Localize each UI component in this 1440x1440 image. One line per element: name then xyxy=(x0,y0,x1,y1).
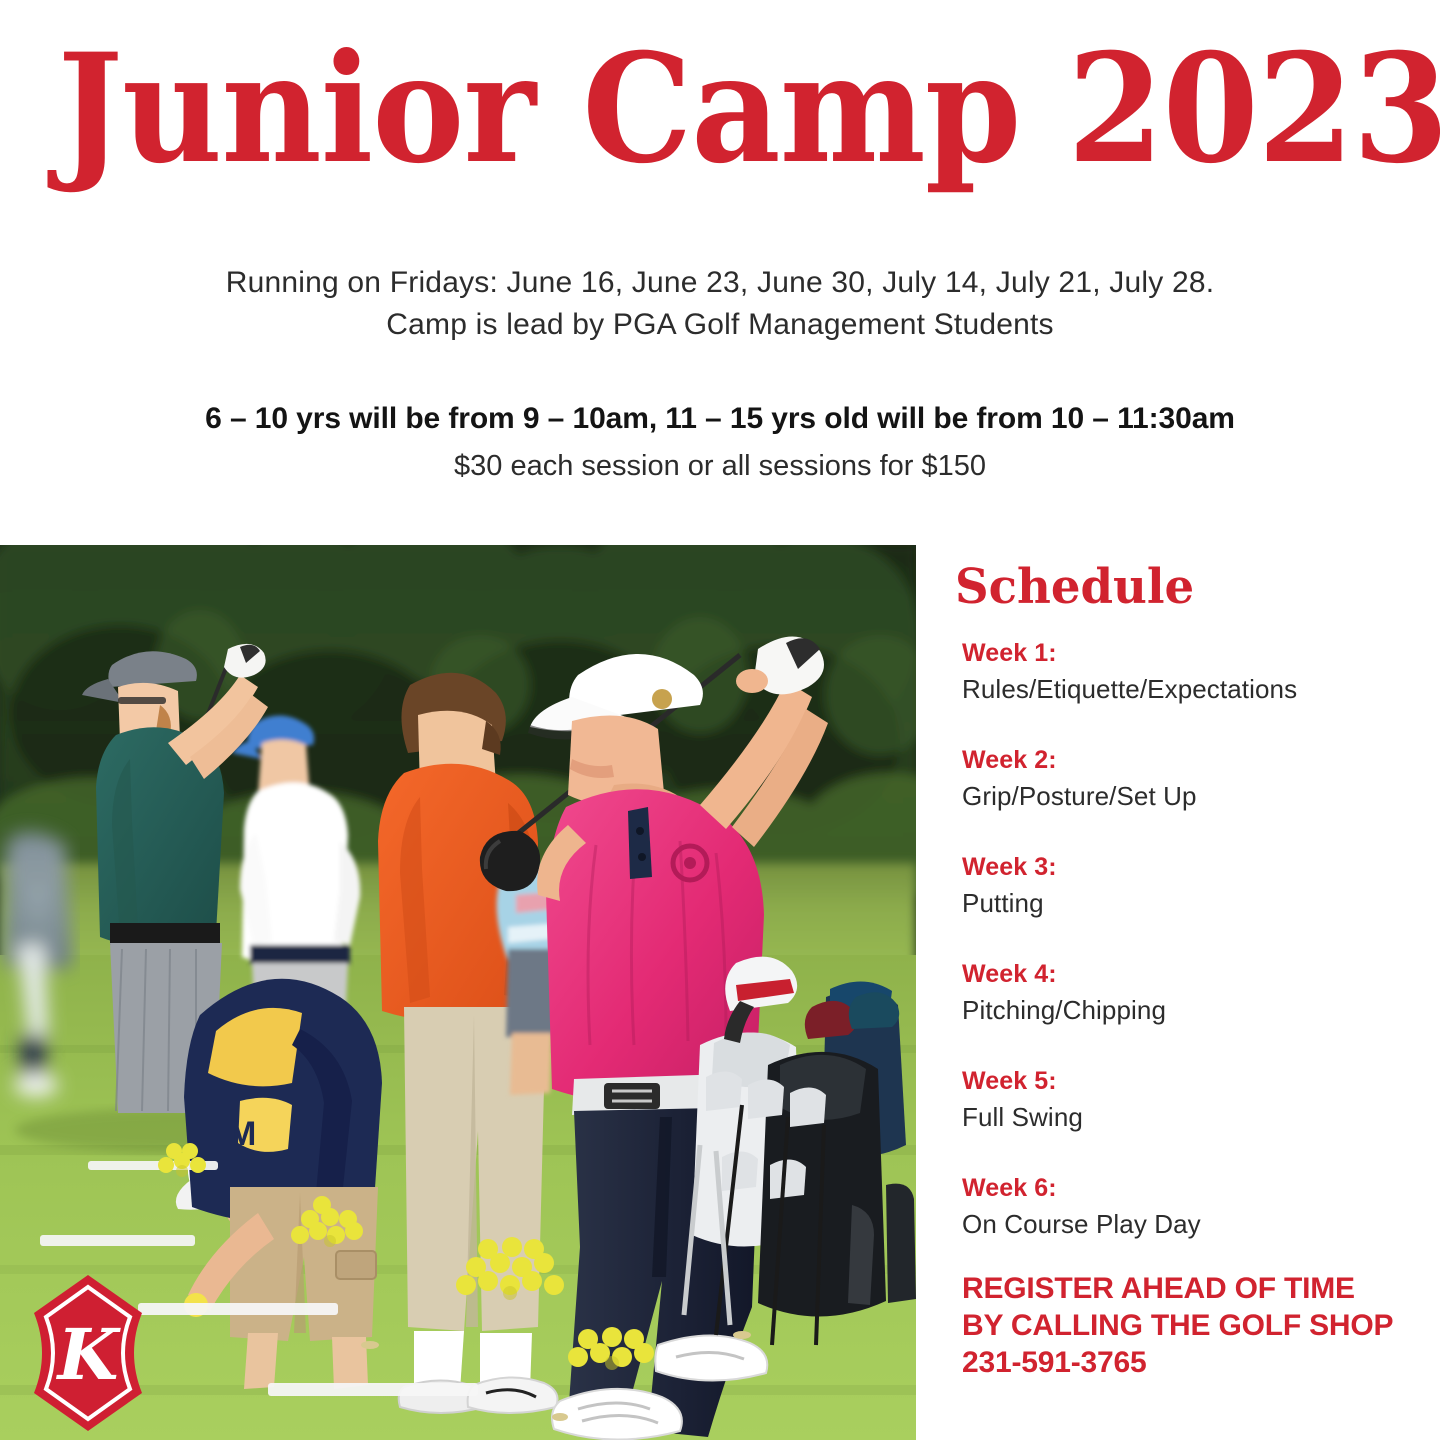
svg-text:M: M xyxy=(228,1115,256,1153)
register-line-1: REGISTER AHEAD OF TIME xyxy=(962,1270,1425,1307)
schedule-week-3: Week 3: Putting xyxy=(962,850,1425,922)
intro-line-2: Camp is lead by PGA Golf Management Stud… xyxy=(0,304,1440,346)
week-1-label: Week 1: xyxy=(962,636,1425,670)
price-line: $30 each session or all sessions for $15… xyxy=(0,450,1440,483)
poster-root: Junior Camp 2023 Running on Fridays: Jun… xyxy=(0,0,1440,1440)
page-title: Junior Camp 2023 xyxy=(58,34,1383,184)
intro-line-1: Running on Fridays: June 16, June 23, Ju… xyxy=(0,262,1440,304)
register-line-2: BY CALLING THE GOLF SHOP xyxy=(962,1307,1425,1344)
week-2-label: Week 2: xyxy=(962,743,1425,777)
week-1-description: Rules/Etiquette/Expectations xyxy=(962,670,1425,708)
week-6-label: Week 6: xyxy=(962,1171,1425,1205)
week-5-label: Week 5: xyxy=(962,1064,1425,1098)
week-2-description: Grip/Posture/Set Up xyxy=(962,777,1425,815)
week-4-description: Pitching/Chipping xyxy=(962,991,1425,1029)
schedule-heading: Schedule xyxy=(955,560,1411,614)
schedule-section: Schedule Week 1: Rules/Etiquette/Expecta… xyxy=(955,560,1425,1381)
schedule-week-5: Week 5: Full Swing xyxy=(962,1064,1425,1136)
schedule-week-1: Week 1: Rules/Etiquette/Expectations xyxy=(962,636,1425,708)
schedule-week-4: Week 4: Pitching/Chipping xyxy=(962,957,1425,1029)
week-5-description: Full Swing xyxy=(962,1098,1425,1136)
svg-text:K: K xyxy=(56,1313,122,1396)
age-times-line: 6 – 10 yrs will be from 9 – 10am, 11 – 1… xyxy=(0,402,1440,436)
driving-range-photo: M xyxy=(0,545,916,1440)
week-3-description: Putting xyxy=(962,884,1425,922)
photo-illustration: M xyxy=(0,545,916,1440)
schedule-week-6: Week 6: On Course Play Day xyxy=(962,1171,1425,1243)
week-3-label: Week 3: xyxy=(962,850,1425,884)
week-6-description: On Course Play Day xyxy=(962,1205,1425,1243)
week-4-label: Week 4: xyxy=(962,957,1425,991)
register-callout: REGISTER AHEAD OF TIME BY CALLING THE GO… xyxy=(962,1270,1425,1381)
intro-paragraph: Running on Fridays: June 16, June 23, Ju… xyxy=(0,262,1440,346)
register-phone-number[interactable]: 231-591-3765 xyxy=(962,1344,1425,1381)
schedule-week-2: Week 2: Grip/Posture/Set Up xyxy=(962,743,1425,815)
